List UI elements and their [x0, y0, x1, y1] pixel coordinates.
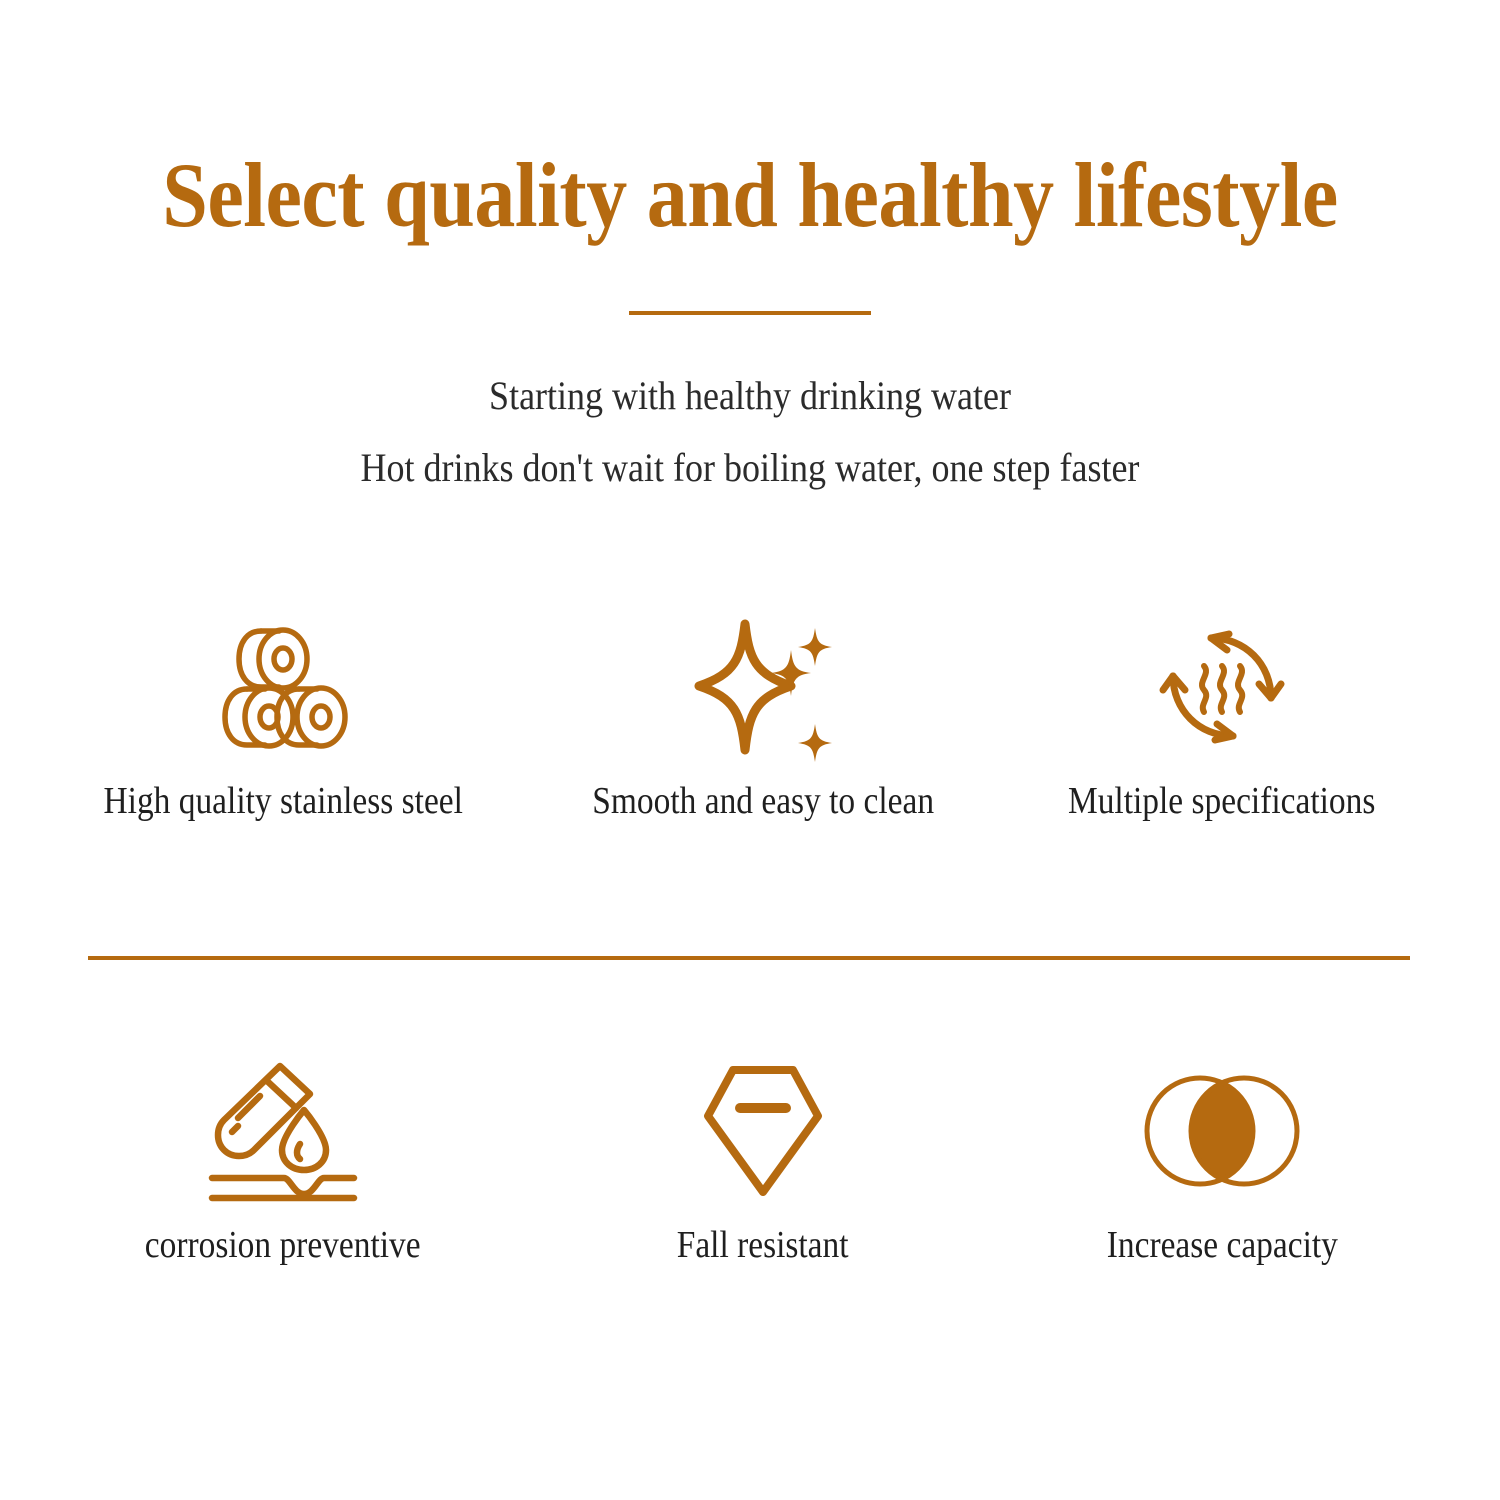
subtitle-line-2: Hot drinks don't wait for boiling water,…	[75, 444, 1425, 491]
page-title: Select quality and healthy lifestyle	[0, 150, 1500, 242]
feature-item-easy-to-clean: Smooth and easy to clean	[513, 612, 1013, 827]
feature-label: Increase capacity	[1106, 1220, 1337, 1271]
feature-label: corrosion preventive	[145, 1220, 421, 1271]
feature-row-top: High quality stainless steel Smooth and …	[0, 612, 1500, 827]
feature-row-bottom: corrosion preventive Fall resistant	[0, 1056, 1500, 1271]
steam-cycle-icon	[1159, 612, 1285, 762]
feature-label: High quality stainless steel	[103, 776, 462, 827]
feature-label: Smooth and easy to clean	[592, 776, 934, 827]
section-divider	[88, 956, 1410, 960]
sparkle-star-icon	[683, 612, 843, 762]
title-divider	[629, 311, 871, 315]
overlapping-circles-icon	[1146, 1056, 1298, 1206]
feature-item-corrosion-preventive: corrosion preventive	[33, 1056, 533, 1271]
subtitle-line-1: Starting with healthy drinking water	[75, 372, 1425, 419]
feature-item-multiple-specifications: Multiple specifications	[972, 612, 1472, 827]
steel-coils-icon	[217, 612, 349, 762]
feature-item-stainless-steel: High quality stainless steel	[33, 612, 533, 827]
feature-item-fall-resistant: Fall resistant	[513, 1056, 1013, 1271]
diamond-gem-icon	[702, 1056, 824, 1206]
feature-label: Multiple specifications	[1068, 776, 1375, 827]
feature-label: Fall resistant	[677, 1220, 849, 1271]
product-feature-banner: Select quality and healthy lifestyle Sta…	[0, 0, 1500, 1500]
feature-item-increase-capacity: Increase capacity	[972, 1056, 1472, 1271]
test-tube-drop-icon	[208, 1056, 358, 1206]
